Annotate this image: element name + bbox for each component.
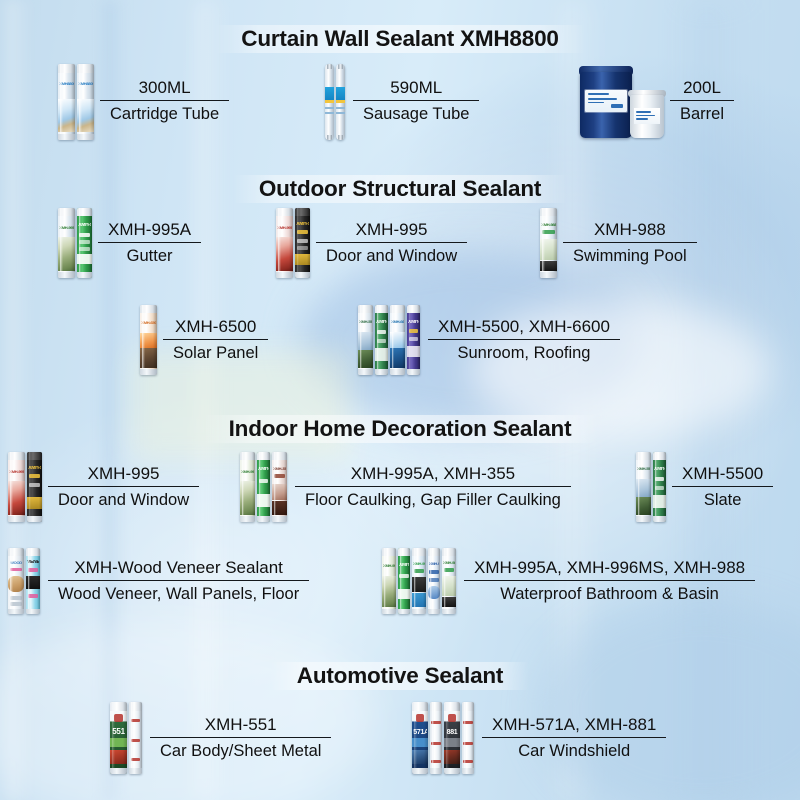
product-code: XMH-6500 xyxy=(165,317,266,339)
product-use: Sunroom, Roofing xyxy=(447,340,600,363)
section-title-indoor-home: Indoor Home Decoration Sealant xyxy=(0,412,800,446)
product-entry-200l-barrel[interactable]: 200L Barrel xyxy=(580,64,734,138)
product-entry-xmh-995-door-window-outdoor[interactable]: XMH-995 XMH-995 XMH-995 Door and Window xyxy=(276,208,467,278)
product-code: XMH-995 xyxy=(78,464,170,486)
product-image-cartridge-tubes: XMH8800 XMH8800 xyxy=(58,62,94,140)
section-title-automotive: Automotive Sealant xyxy=(0,659,800,693)
product-image-door-window-sealant: XMH-995 XMH-995 xyxy=(276,208,310,278)
product-image-bathroom-sealants: XMH-995A XMH-995A XMH-996MS xyxy=(382,548,456,614)
product-use: Car Body/Sheet Metal xyxy=(150,738,331,761)
product-caption: XMH-995A, XMH-355 Floor Caulking, Gap Fi… xyxy=(295,464,571,510)
section-title-curtain-wall: Curtain Wall Sealant XMH8800 xyxy=(0,22,800,56)
product-caption: XMH-5500 Slate xyxy=(672,464,773,510)
section-heading: Indoor Home Decoration Sealant xyxy=(229,416,572,442)
product-entry-xmh-995a-355-floor-caulking[interactable]: XMH-995A XMH-995A XMH-355 xyxy=(240,452,571,522)
sealant-product-poster: Curtain Wall Sealant XMH8800 XMH8800 XMH… xyxy=(0,0,800,800)
product-image-solar-panel-sealant: XMH-6500 xyxy=(140,305,157,375)
product-caption: XMH-551 Car Body/Sheet Metal xyxy=(150,715,331,761)
product-code: 200L xyxy=(673,78,731,100)
product-code: 300ML xyxy=(129,78,201,100)
product-caption: 300ML Cartridge Tube xyxy=(100,78,229,124)
product-use: Swimming Pool xyxy=(563,243,697,266)
product-caption: XMH-995A Gutter xyxy=(98,220,201,266)
product-entry-xmh-995a-gutter[interactable]: XMH-995A XMH-995A XMH-995A Gutter xyxy=(58,208,201,278)
product-entry-300ml-cartridge-tube[interactable]: XMH8800 XMH8800 300ML Cartridge Tube xyxy=(58,62,229,140)
product-entry-590ml-sausage-tube[interactable]: 590ML Sausage Tube xyxy=(325,62,479,140)
product-caption: XMH-995A, XMH-996MS, XMH-988 Waterproof … xyxy=(464,558,755,604)
product-code: XMH-5500 xyxy=(672,464,773,486)
product-entry-xmh-995-door-window-indoor[interactable]: XMH-995 XMH-995 XMH-995 Door and Window xyxy=(8,452,199,522)
product-code: 590ML xyxy=(380,78,452,100)
product-use: Cartridge Tube xyxy=(100,101,229,124)
product-use: Barrel xyxy=(670,101,734,124)
product-caption: 590ML Sausage Tube xyxy=(353,78,479,124)
section-heading: Automotive Sealant xyxy=(297,663,503,689)
product-code: XMH-995A, XMH-996MS, XMH-988 xyxy=(464,558,755,580)
product-caption: XMH-995 Door and Window xyxy=(48,464,199,510)
product-caption: XMH-571A, XMH-881 Car Windshield xyxy=(482,715,666,761)
product-code: XMH-551 xyxy=(195,715,287,737)
product-image-swimming-pool-sealant: XMH-988 xyxy=(540,208,557,278)
product-caption: 200L Barrel xyxy=(670,78,734,124)
product-use: Solar Panel xyxy=(163,340,268,363)
product-entry-waterproof-bathroom-basin[interactable]: XMH-995A XMH-995A XMH-996MS xyxy=(382,548,755,614)
product-image-slate-sealant: XMH-5500 XMH-5500 xyxy=(636,452,666,522)
product-image-floor-caulking-sealants: XMH-995A XMH-995A XMH-355 xyxy=(240,452,287,522)
product-entry-xmh-5500-slate[interactable]: XMH-5500 XMH-5500 XMH-5500 Slate xyxy=(636,452,773,522)
product-code: XMH-988 xyxy=(584,220,676,242)
product-use: Door and Window xyxy=(48,487,199,510)
product-entry-xmh-571a-881-car-windshield[interactable]: 571A 881 xyxy=(412,702,666,774)
product-image-car-body-sealant: 551 xyxy=(110,702,142,774)
product-entry-xmh-wood-veneer-sealant[interactable]: WOOD VENEER XMH-Wood Veneer Sealant Wood… xyxy=(8,548,309,614)
product-caption: XMH-995 Door and Window xyxy=(316,220,467,266)
product-use: Door and Window xyxy=(316,243,467,266)
product-caption: XMH-5500, XMH-6600 Sunroom, Roofing xyxy=(428,317,620,363)
section-heading: Outdoor Structural Sealant xyxy=(259,176,541,202)
section-heading: Curtain Wall Sealant XMH8800 xyxy=(241,26,558,52)
product-caption: XMH-6500 Solar Panel xyxy=(163,317,268,363)
product-entry-xmh-6500-solar-panel[interactable]: XMH-6500 XMH-6500 Solar Panel xyxy=(140,305,268,375)
product-use: Sausage Tube xyxy=(353,101,479,124)
product-entry-xmh-551-car-body[interactable]: 551 XMH-551 Car Body/Sheet Metal xyxy=(110,702,331,774)
product-image-gutter-sealant: XMH-995A XMH-995A xyxy=(58,208,92,278)
product-image-wood-veneer-sealants: WOOD VENEER xyxy=(8,548,40,614)
product-code: XMH-995 xyxy=(346,220,438,242)
product-use: Floor Caulking, Gap Filler Caulking xyxy=(295,487,571,510)
product-image-sunroom-roofing-sealants: XMH-5500 XMH-5500 XMH-6600 xyxy=(358,305,420,375)
product-use: Car Windshield xyxy=(508,738,640,761)
product-code: XMH-995A, XMH-355 xyxy=(341,464,525,486)
product-image-sausage-tubes xyxy=(325,62,345,140)
product-code: XMH-Wood Veneer Sealant xyxy=(64,558,293,580)
product-use: Slate xyxy=(694,487,752,510)
product-use: Gutter xyxy=(117,243,183,266)
product-code: XMH-995A xyxy=(98,220,201,242)
product-caption: XMH-988 Swimming Pool xyxy=(563,220,697,266)
product-caption: XMH-Wood Veneer Sealant Wood Veneer, Wal… xyxy=(48,558,309,604)
product-image-car-windshield-sealants: 571A 881 xyxy=(412,702,474,774)
product-use: Wood Veneer, Wall Panels, Floor xyxy=(48,581,309,604)
product-image-barrel-and-pail xyxy=(580,64,662,138)
product-use: Waterproof Bathroom & Basin xyxy=(490,581,729,604)
backdrop-streak-1 xyxy=(6,0,32,800)
product-entry-xmh-5500-6600-sunroom-roofing[interactable]: XMH-5500 XMH-5500 XMH-6600 xyxy=(358,305,620,375)
product-image-door-window-sealant-indoor: XMH-995 XMH-995 xyxy=(8,452,42,522)
product-code: XMH-5500, XMH-6600 xyxy=(428,317,620,339)
product-code: XMH-571A, XMH-881 xyxy=(482,715,666,737)
section-title-outdoor-structural: Outdoor Structural Sealant xyxy=(0,172,800,206)
product-entry-xmh-988-swimming-pool[interactable]: XMH-988 XMH-988 Swimming Pool xyxy=(540,208,697,278)
